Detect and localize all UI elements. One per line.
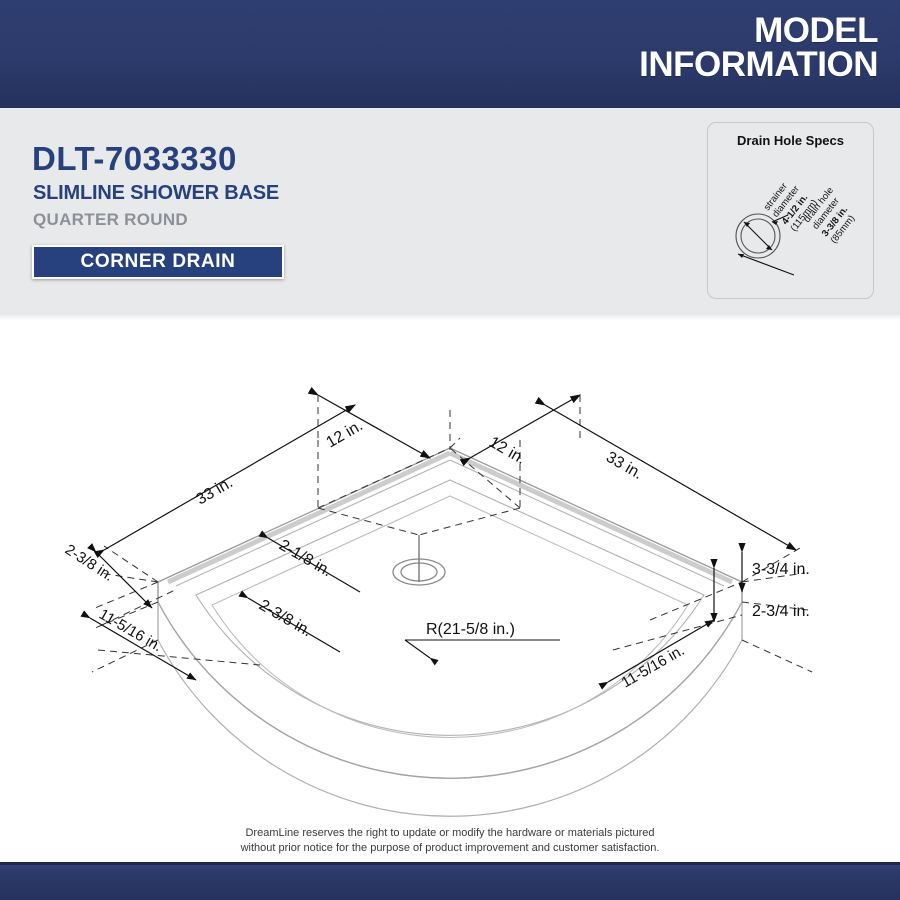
base-top-outline — [158, 448, 742, 778]
dimension-right-height-lower-label: 2-3/4 in. — [752, 603, 810, 620]
radius-label: R(21-5/8 in.) — [426, 621, 515, 638]
drain-hole-specs-box: Drain Hole Specs strainer diameter 4-1/2… — [707, 122, 874, 299]
footer-disclaimer: DreamLine reserves the right to update o… — [0, 826, 900, 856]
page-header: MODEL INFORMATION — [0, 0, 900, 108]
dimension-right-height-upper: 3-3/4 in. — [742, 552, 810, 592]
dimension-right-flange-label: 12 in. — [486, 434, 528, 468]
dimension-right-flange: 12 in. — [470, 395, 580, 468]
header-title: MODEL INFORMATION — [639, 14, 878, 82]
dimension-left-length-label: 33 in. — [194, 474, 236, 508]
footer-disclaimer-line1: DreamLine reserves the right to update o… — [245, 827, 654, 839]
dimension-left-flange-label: 12 in. — [324, 417, 366, 451]
dimension-right-length-label: 33 in. — [603, 449, 645, 483]
hole-leader — [738, 254, 794, 275]
dimension-left-flange: 12 in. — [318, 395, 430, 458]
product-name: SLIMLINE SHOWER BASE — [33, 182, 279, 205]
footer-disclaimer-line2: without prior notice for the purpose of … — [0, 841, 900, 856]
model-number: DLT-7033330 — [32, 140, 237, 178]
shower-base-drawing: 33 in. 12 in. 12 in. 33 in. 2-1/8 in. 2-… — [0, 320, 900, 860]
footer-bar — [0, 865, 900, 900]
dimension-right-height-upper-label: 3-3/4 in. — [752, 561, 810, 578]
dimension-left-height: 2-3/8 in. — [62, 541, 152, 608]
info-band-shadow — [0, 313, 900, 320]
drain-type-badge: CORNER DRAIN — [32, 245, 284, 279]
drain-hole-diagram: strainer diameter 4-1/2 in. (115mm) drai… — [708, 123, 873, 298]
header-title-line2: INFORMATION — [639, 48, 878, 82]
product-shape: QUARTER ROUND — [33, 210, 188, 230]
hole-label-group: drain hole diameter 3-3/8 in. (85mm) — [802, 185, 863, 246]
diameter-arrows — [744, 222, 772, 250]
model-information-page: MODEL INFORMATION DLT-7033330 SLIMLINE S… — [0, 0, 900, 900]
